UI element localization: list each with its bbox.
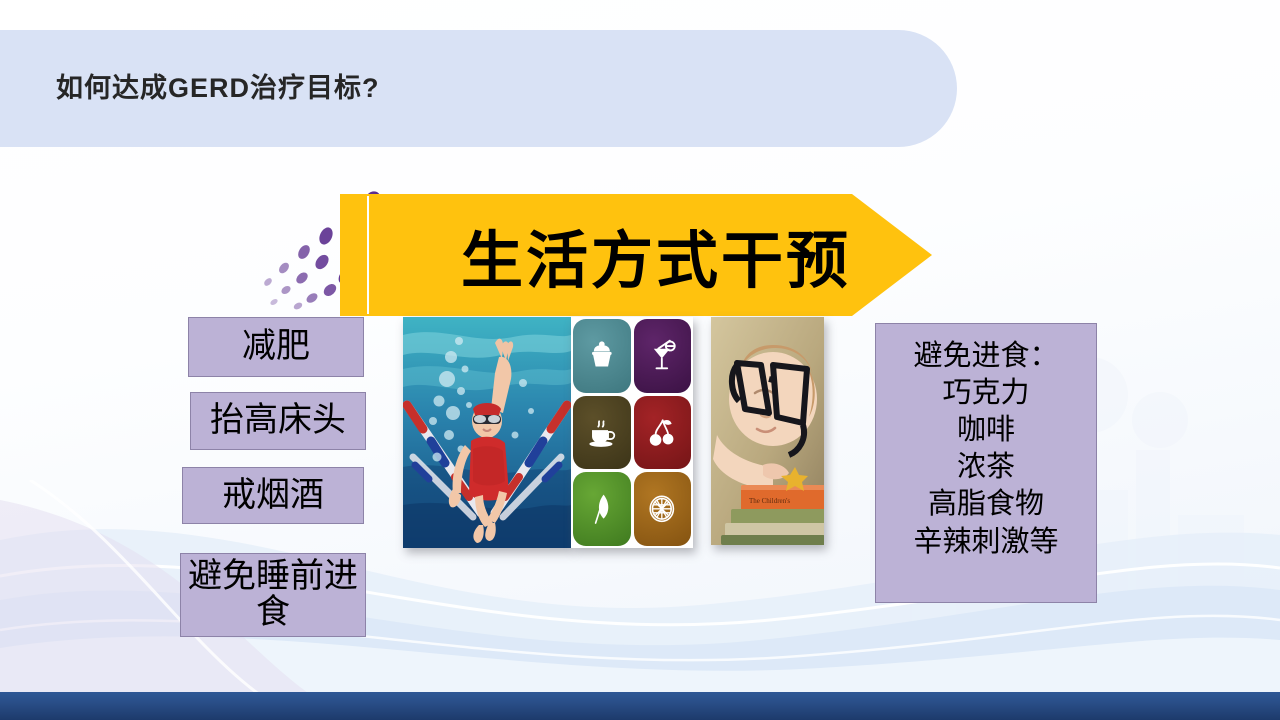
page-title: 如何达成GERD治疗目标? — [56, 66, 380, 105]
avoid-food-item-3: 高脂食物 — [928, 486, 1044, 523]
measure-box-weight-loss[interactable]: 减肥 — [188, 317, 364, 377]
leaf-icon — [573, 472, 631, 546]
coffee-icon — [573, 396, 631, 470]
avoid-foods-box[interactable]: 避免进食： 巧克力 咖啡 浓茶 高脂食物 辛辣刺激等 — [875, 323, 1097, 603]
cherries-icon — [634, 396, 692, 470]
avoid-food-item-1: 咖啡 — [957, 412, 1015, 449]
food-icons-photo — [571, 317, 693, 548]
food-icon-grid — [571, 317, 693, 548]
measure-box-quit-smoking-alcohol[interactable]: 戒烟酒 — [182, 467, 364, 524]
cocktail-icon — [634, 319, 692, 393]
avoid-foods-heading: 避免进食： — [913, 338, 1058, 375]
slide-canvas: 如何达成GERD治疗目标? — [0, 0, 1280, 720]
cupcake-icon — [573, 319, 631, 393]
svg-text:The Children's: The Children's — [749, 497, 790, 505]
swimmer-photo — [403, 317, 571, 548]
avoid-food-item-2: 浓茶 — [957, 449, 1015, 486]
sleeping-baby-photo: The Children's — [711, 317, 824, 545]
arrow-banner-label: 生活方式干预 — [436, 194, 876, 316]
measure-box-raise-bed-head[interactable]: 抬高床头 — [190, 392, 366, 450]
bottom-bar — [0, 692, 1280, 720]
orange-slice-icon — [634, 472, 692, 546]
lifestyle-arrow-banner: 生活方式干预 — [340, 194, 932, 316]
avoid-food-item-0: 巧克力 — [942, 375, 1029, 412]
measure-box-no-eating-before-sleep[interactable]: 避免睡前进食 — [180, 553, 366, 637]
avoid-food-item-4: 辛辣刺激等 — [913, 524, 1058, 561]
